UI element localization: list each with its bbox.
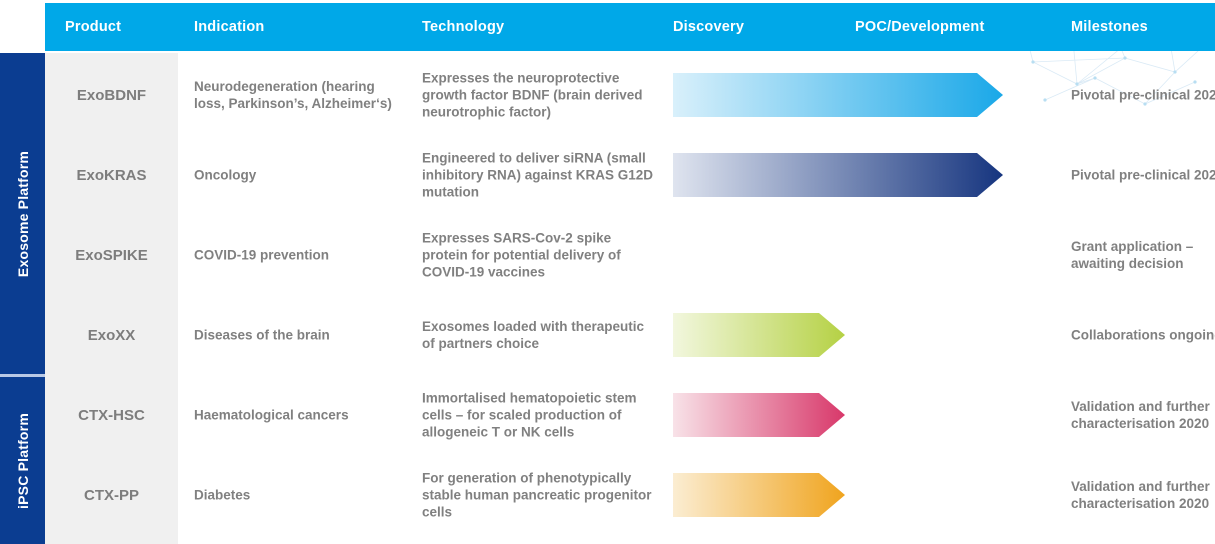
pipeline-table: ExoBDNFNeurodegeneration (hearing loss, … (45, 53, 1215, 544)
cell-milestone: Pivotal pre-clinical 2020 (1071, 167, 1215, 184)
progress-arrow (673, 313, 845, 357)
cell-milestone: Pivotal pre-clinical 2020 (1071, 87, 1215, 104)
progress-arrow-track (673, 153, 1003, 197)
cell-indication: Diseases of the brain (194, 327, 406, 344)
progress-arrow-track (673, 473, 845, 517)
table-row: CTX-HSCHaematological cancersImmortalise… (45, 375, 1215, 455)
table-row: CTX-PPDiabetesFor generation of phenotyp… (45, 455, 1215, 535)
progress-arrow (673, 393, 845, 437)
cell-indication: COVID-19 prevention (194, 247, 406, 264)
cell-milestone: Validation and further characterisation … (1071, 478, 1215, 512)
cell-technology: Exosomes loaded with therapeutic of part… (422, 318, 657, 352)
column-header-milestones: Milestones (1071, 3, 1148, 51)
cell-product: ExoSPIKE (45, 215, 178, 295)
column-header-discovery: Discovery (673, 3, 744, 51)
platform-rail-ipsc: iPSC Platform (0, 377, 45, 544)
cell-milestone: Validation and further characterisation … (1071, 398, 1215, 432)
progress-arrow-track (673, 73, 1003, 117)
table-row: ExoBDNFNeurodegeneration (hearing loss, … (45, 55, 1215, 135)
table-header-bar: Product Indication Technology Discovery … (45, 3, 1215, 51)
cell-indication: Diabetes (194, 487, 406, 504)
table-row: ExoKRASOncologyEngineered to deliver siR… (45, 135, 1215, 215)
column-header-indication: Indication (194, 3, 264, 51)
cell-technology: Immortalised hematopoietic stem cells – … (422, 390, 657, 441)
column-header-poc: POC/Development (855, 3, 985, 51)
cell-milestone: Collaborations ongoing (1071, 327, 1215, 344)
table-row: ExoSPIKECOVID-19 preventionExpresses SAR… (45, 215, 1215, 295)
cell-product: CTX-PP (45, 455, 178, 535)
progress-arrow-track (673, 313, 845, 357)
cell-indication: Haematological cancers (194, 407, 406, 424)
cell-technology: Expresses SARS-Cov-2 spike protein for p… (422, 230, 657, 281)
cell-indication: Oncology (194, 167, 406, 184)
cell-product: ExoBDNF (45, 55, 178, 135)
cell-technology: Engineered to deliver siRNA (small inhib… (422, 150, 657, 201)
table-row: ExoXXDiseases of the brainExosomes loade… (45, 295, 1215, 375)
cell-product: CTX-HSC (45, 375, 178, 455)
cell-product: ExoXX (45, 295, 178, 375)
progress-arrow (673, 473, 845, 517)
progress-arrow (673, 153, 1003, 197)
progress-arrow (673, 233, 845, 277)
cell-technology: For generation of phenotypically stable … (422, 470, 657, 521)
cell-milestone: Grant application – awaiting decision (1071, 238, 1215, 272)
progress-arrow (673, 73, 1003, 117)
column-header-product: Product (65, 3, 121, 51)
cell-indication: Neurodegeneration (hearing loss, Parkins… (194, 78, 406, 112)
platform-label-exosome: Exosome Platform (15, 150, 31, 276)
cell-technology: Expresses the neuroprotective growth fac… (422, 70, 657, 121)
platform-rail-exosome: Exosome Platform (0, 53, 45, 374)
progress-arrow-track (673, 233, 845, 277)
platform-label-ipsc: iPSC Platform (15, 413, 31, 509)
column-header-technology: Technology (422, 3, 504, 51)
progress-arrow-track (673, 393, 845, 437)
cell-product: ExoKRAS (45, 135, 178, 215)
